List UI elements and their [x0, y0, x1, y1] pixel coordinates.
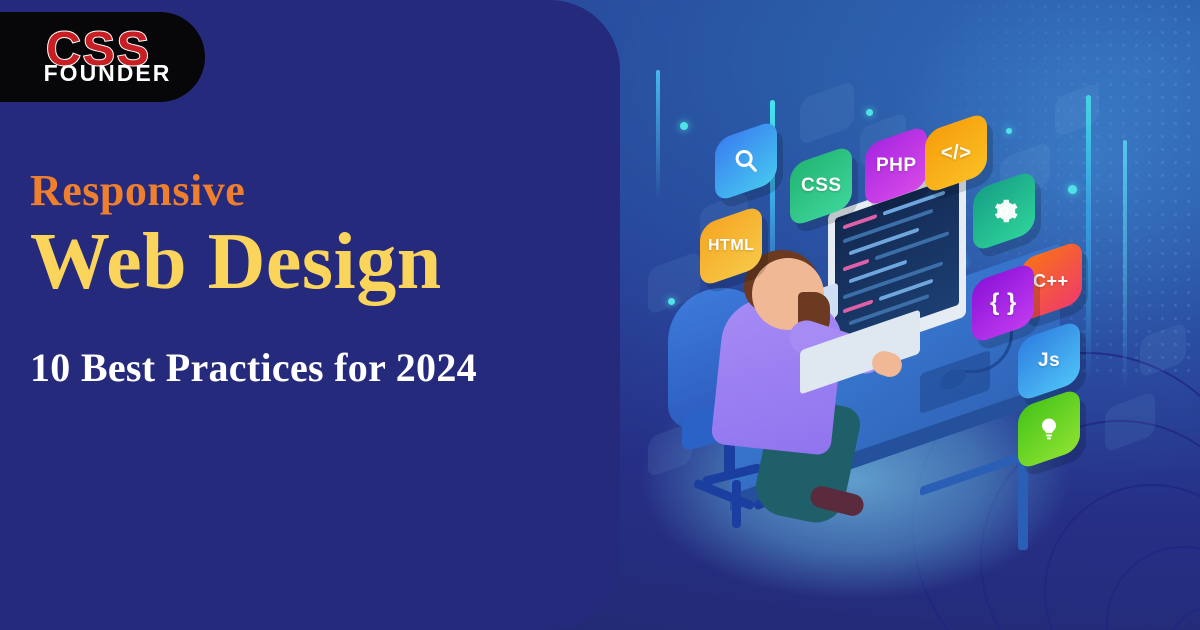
html-icon-label: HTML — [708, 237, 754, 255]
headline-eyebrow: Responsive — [30, 168, 590, 214]
headline-main: Web Design — [30, 218, 590, 306]
css-icon-label: CSS — [801, 175, 842, 197]
code-tag-icon: </> — [925, 111, 987, 194]
headline-sub: 10 Best Practices for 2024 — [30, 344, 590, 391]
magnifier-icon — [715, 119, 777, 202]
banner: CSS HTML PHP </> C++ { } Js — [0, 0, 1200, 630]
curly-braces-icon-label: { } — [990, 289, 1017, 317]
gear-icon — [973, 169, 1035, 252]
developer-illustration: CSS HTML PHP </> C++ { } Js — [620, 0, 1200, 630]
cpp-icon-label: C++ — [1033, 271, 1069, 292]
javascript-icon-label: Js — [1038, 350, 1060, 372]
php-icon-label: PHP — [876, 155, 917, 177]
code-tag-icon-label: </> — [941, 142, 971, 165]
logo-secondary-text: FOUNDER — [44, 60, 172, 87]
headline-block: Responsive Web Design 10 Best Practices … — [30, 168, 590, 391]
css-founder-logo[interactable]: CSS FOUNDER — [0, 12, 205, 102]
